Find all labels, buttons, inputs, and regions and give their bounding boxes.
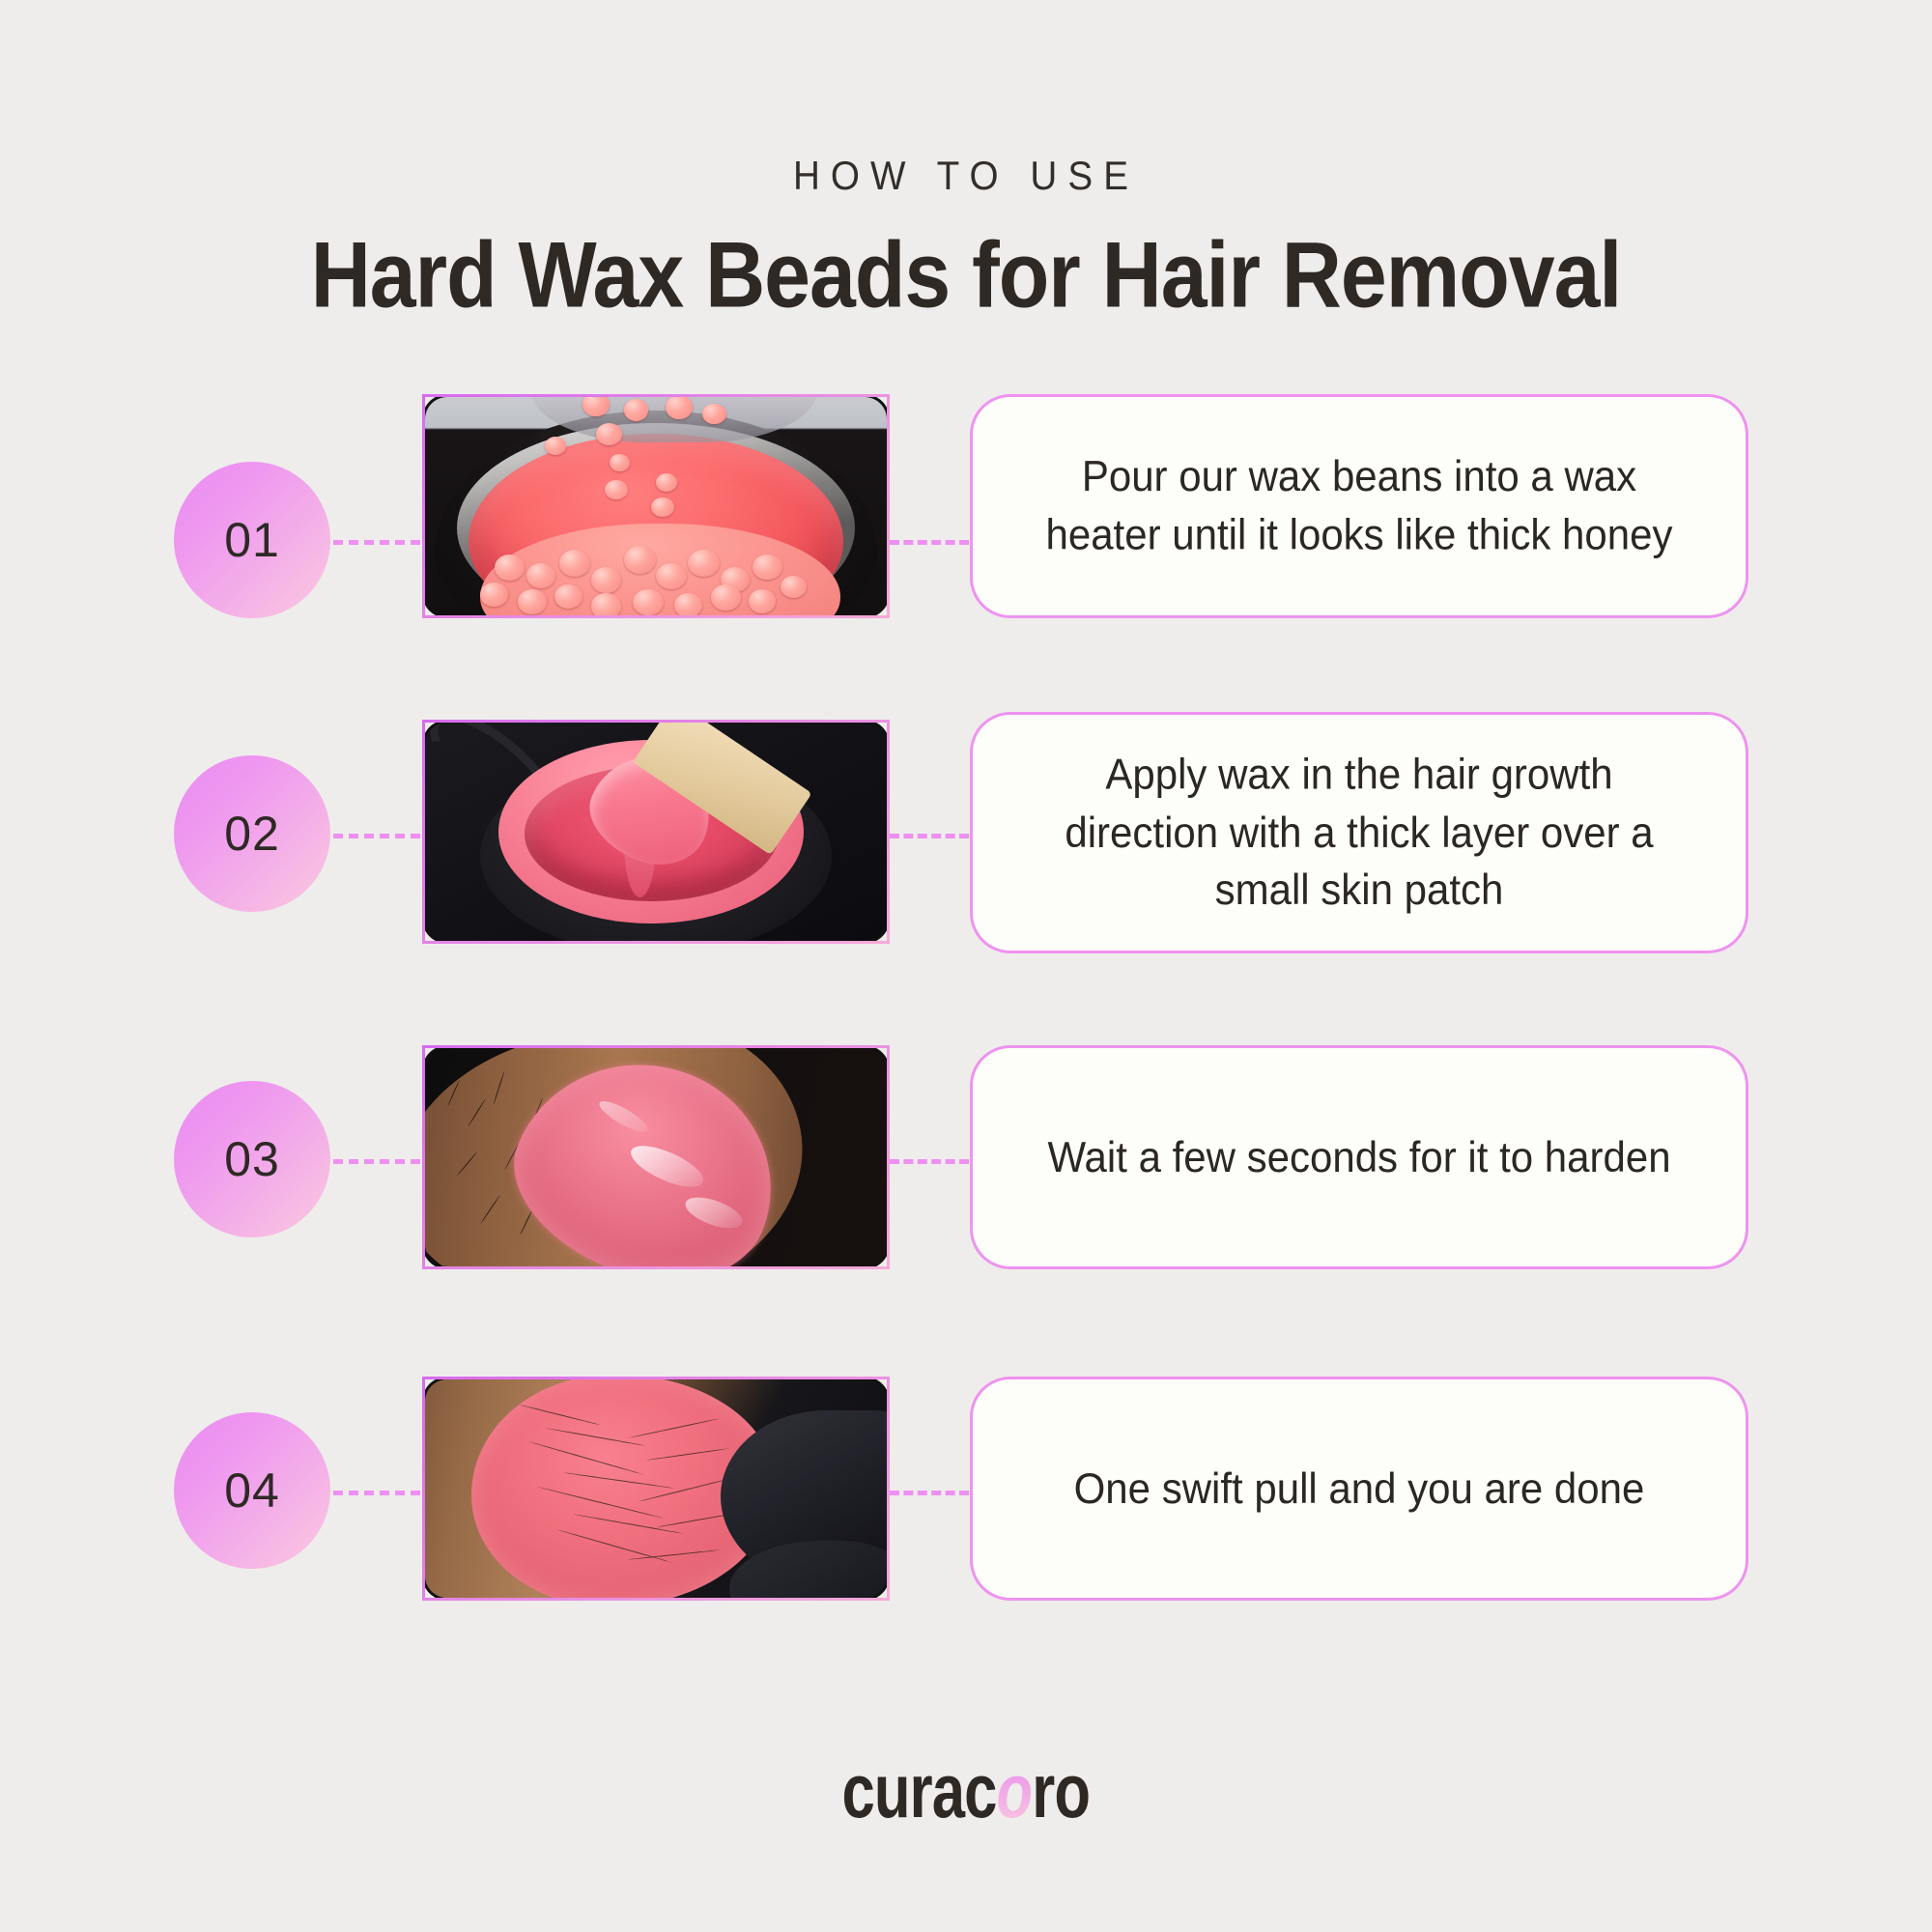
step-row: 01 <box>0 386 1932 720</box>
step-text-card-02: Apply wax in the hair growth direction w… <box>970 712 1748 953</box>
connector-dashed-right <box>890 1491 969 1495</box>
step-row: 04 <box>0 1386 1932 1719</box>
connector-dashed-right <box>890 1159 969 1164</box>
step-text-card-03: Wait a few seconds for it to harden <box>970 1045 1748 1269</box>
step-number-badge-01: 01 <box>174 462 330 618</box>
step-photo-04 <box>422 1377 890 1601</box>
connector-dashed-left <box>333 1491 420 1495</box>
step-number-badge-02: 02 <box>174 755 330 912</box>
header: HOW TO USE Hard Wax Beads for Hair Remov… <box>0 0 1932 324</box>
step-photo-01 <box>422 394 890 618</box>
brand-logo-part2: ro <box>1032 1748 1090 1833</box>
step-description: One swift pull and you are done <box>1014 1460 1705 1518</box>
step-row: 02 Apply wax in the hair growth directio… <box>0 720 1932 1053</box>
eyebrow-label: HOW TO USE <box>77 153 1855 199</box>
step-photo-03 <box>422 1045 890 1269</box>
gloved-hand-peeling-wax-strip-photo <box>425 1379 887 1598</box>
step-number-badge-03: 03 <box>174 1081 330 1237</box>
step-number-label: 03 <box>224 1131 280 1187</box>
connector-dashed-left <box>333 540 420 545</box>
step-description: Apply wax in the hair growth direction w… <box>973 746 1746 920</box>
steps-list: 01 <box>0 386 1932 1719</box>
wax-applied-on-skin-photo <box>425 1048 887 1266</box>
step-number-label: 02 <box>224 806 280 862</box>
melted-wax-on-spatula-photo <box>425 723 887 941</box>
brand-logo-part1: curac <box>842 1748 997 1833</box>
step-photo-02 <box>422 720 890 944</box>
step-row: 03 Wait a few seconds <box>0 1053 1932 1386</box>
connector-dashed-left <box>333 1159 420 1164</box>
page-title: Hard Wax Beads for Hair Removal <box>0 222 1932 329</box>
brand-logo: curacoro <box>0 1752 1932 1830</box>
step-number-label: 01 <box>224 512 280 568</box>
step-description: Pour our wax beans into a wax heater unt… <box>973 448 1746 564</box>
step-text-card-01: Pour our wax beans into a wax heater unt… <box>970 394 1748 618</box>
brand-logo-accent-letter: o <box>997 1748 1033 1833</box>
connector-dashed-right <box>890 834 969 838</box>
connector-dashed-left <box>333 834 420 838</box>
step-number-badge-04: 04 <box>174 1412 330 1569</box>
connector-dashed-right <box>890 540 969 545</box>
step-text-card-04: One swift pull and you are done <box>970 1377 1748 1601</box>
wax-beads-pouring-into-heater-photo <box>425 397 887 615</box>
step-number-label: 04 <box>224 1463 280 1519</box>
step-description: Wait a few seconds for it to harden <box>987 1128 1730 1186</box>
